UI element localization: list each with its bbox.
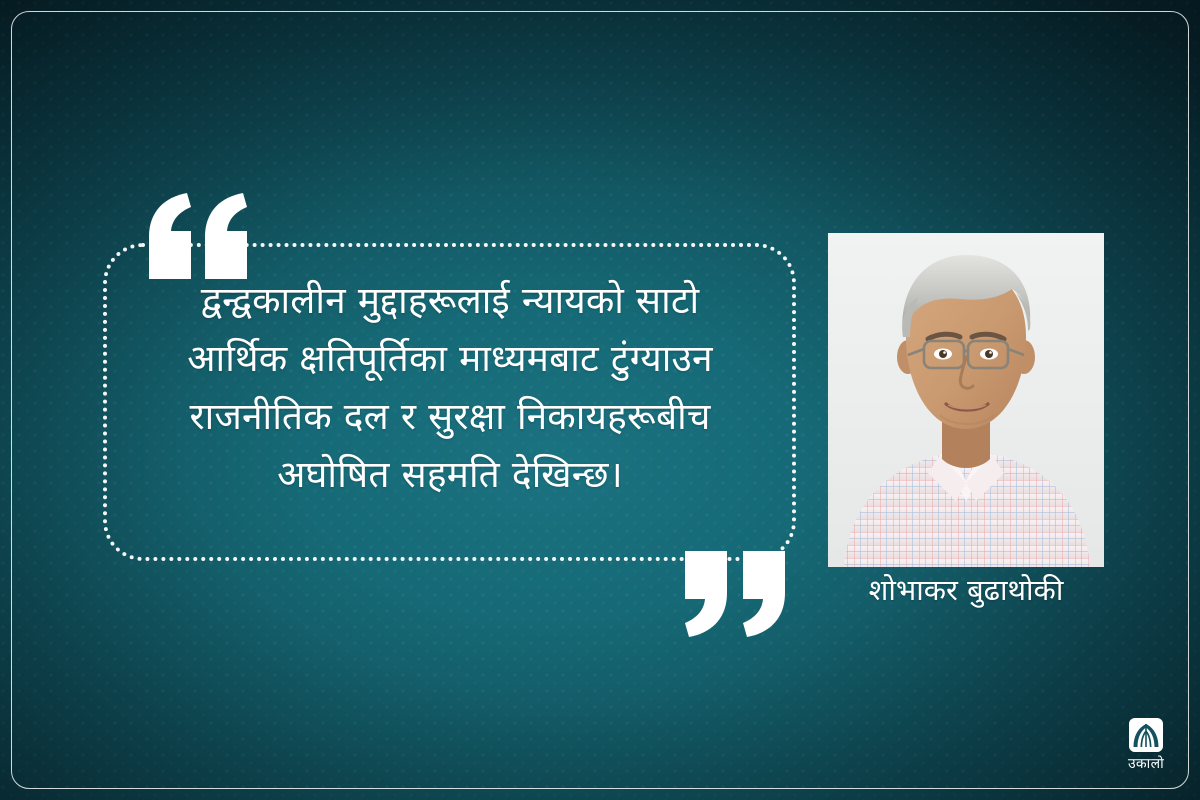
open-quote-icon — [143, 193, 251, 279]
ukaalo-logo-text: उकालो — [1114, 756, 1178, 773]
quote-card: द्वन्द्वकालीन मुद्दाहरूलाई न्यायको साटो … — [0, 0, 1200, 800]
ukaalo-logo[interactable]: उकालो — [1114, 718, 1178, 782]
quote-line: राजनीतिक दल र सुरक्षा निकायहरूबीच — [108, 388, 792, 446]
quote-line: द्वन्द्वकालीन मुद्दाहरूलाई न्यायको साटो — [108, 272, 792, 330]
portrait-photo — [828, 233, 1104, 567]
quote-line: अघोषित सहमति देखिन्छ। — [108, 446, 792, 504]
close-quote-icon — [681, 551, 789, 637]
portrait-caption: शोभाकर बुढाथोकी — [818, 572, 1114, 608]
ukaalo-mark-icon — [1129, 718, 1163, 752]
quote-text: द्वन्द्वकालीन मुद्दाहरूलाई न्यायको साटो … — [108, 272, 792, 504]
quote-line: आर्थिक क्षतिपूर्तिका माध्यमबाट टुंग्याउन — [108, 330, 792, 388]
